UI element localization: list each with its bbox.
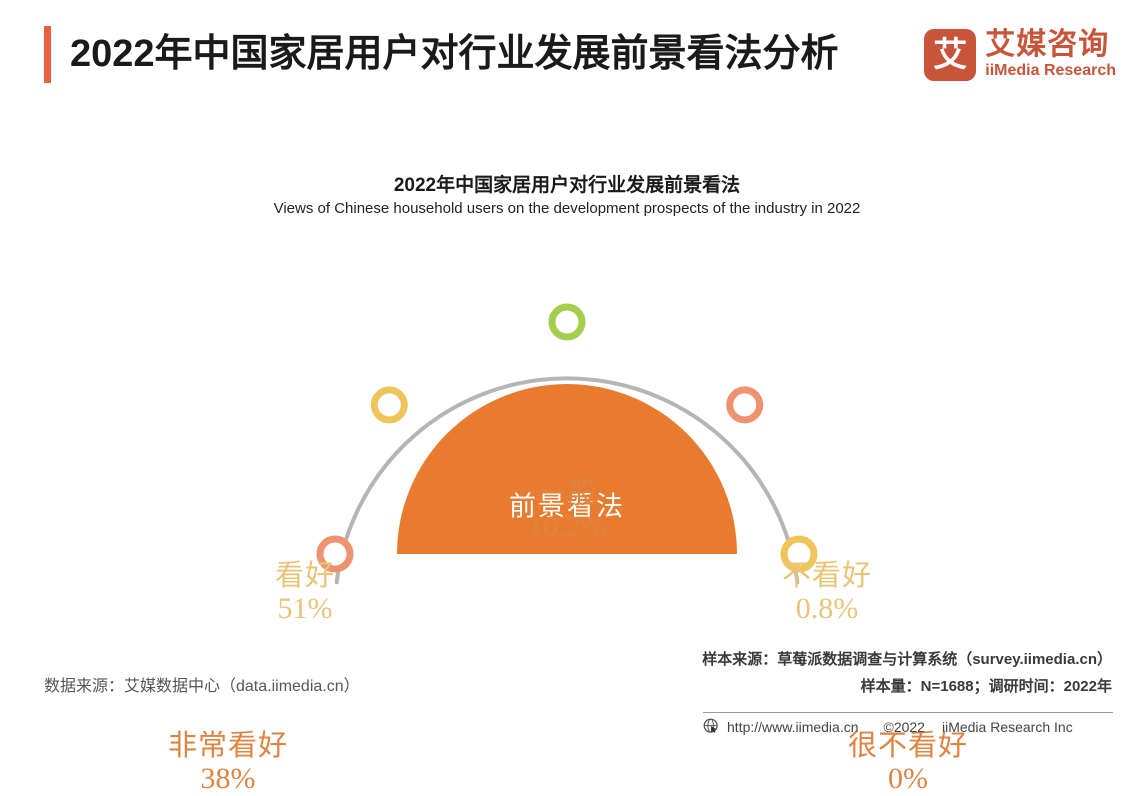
callout-very-negative: 很不看好 0% <box>848 730 968 796</box>
footer-website[interactable]: http://www.iimedia.cn <box>727 719 859 735</box>
brand-logo: 艾 艾媒咨询 iiMedia Research <box>924 26 1116 84</box>
brand-name-en: iiMedia Research <box>985 61 1116 81</box>
callout-value: 51% <box>275 592 335 626</box>
footer-bar: http://www.iimedia.cn ©2022 iiMedia Rese… <box>703 712 1113 735</box>
footer-copyright: ©2022 <box>884 719 925 735</box>
footer-company: iiMedia Research Inc <box>942 719 1073 735</box>
data-source-note: 数据来源：艾媒数据中心（data.iimedia.cn） <box>44 672 360 696</box>
globe-cursor-icon <box>703 718 720 735</box>
sample-source-note: 样本来源：草莓派数据调查与计算系统（survey.iimedia.cn） <box>702 648 1112 669</box>
callout-positive: 看好 51% <box>275 560 335 626</box>
gauge-marker <box>552 307 582 337</box>
title-accent-bar <box>44 26 51 83</box>
chart-subtitle: Views of Chinese household users on the … <box>0 200 1134 217</box>
callout-category: 不看好 <box>782 560 872 592</box>
gauge-chart: 前景看法 非常看好 38% 看好 51% 一般 10.2% 不看好 0.8% 很… <box>0 230 1134 630</box>
callout-neutral: 一般 10.2% <box>528 478 606 544</box>
brand-mark-icon: 艾 <box>924 29 976 81</box>
chart-title: 2022年中国家居用户对行业发展前景看法 <box>0 170 1134 197</box>
page-header: 2022年中国家居用户对行业发展前景看法分析 艾 艾媒咨询 iiMedia Re… <box>0 0 1134 108</box>
callout-category: 看好 <box>275 560 335 592</box>
gauge-marker <box>730 390 760 420</box>
sample-size-note: 样本量：N=1688；调研时间：2022年 <box>861 675 1112 696</box>
callout-value: 0.8% <box>782 592 872 626</box>
brand-text: 艾媒咨询 iiMedia Research <box>985 29 1116 81</box>
callout-value: 0% <box>848 762 968 796</box>
callout-value: 38% <box>168 762 288 796</box>
gauge-svg <box>0 230 1134 630</box>
brand-name-cn: 艾媒咨询 <box>985 29 1116 61</box>
callout-category: 一般 <box>528 478 606 510</box>
callout-category: 非常看好 <box>168 730 288 762</box>
page-title: 2022年中国家居用户对行业发展前景看法分析 <box>70 26 839 82</box>
gauge-marker <box>374 390 404 420</box>
callout-very-positive: 非常看好 38% <box>168 730 288 796</box>
callout-negative: 不看好 0.8% <box>782 560 872 626</box>
callout-value: 10.2% <box>528 510 606 544</box>
